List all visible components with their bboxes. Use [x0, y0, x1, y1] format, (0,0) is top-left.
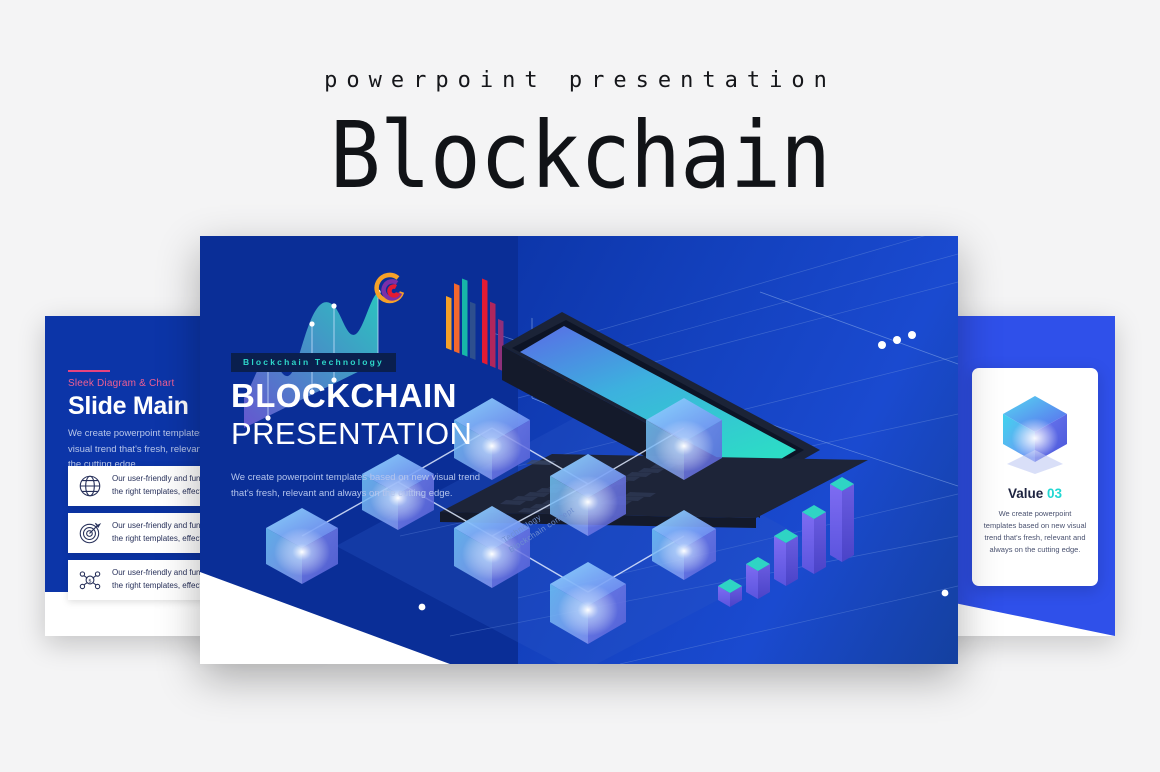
value-card-label: Value — [1008, 486, 1043, 501]
slide-preview-center[interactable]: Blockchain Technology BLOCKCHAIN PRESENT… — [200, 236, 958, 664]
accent-rule — [68, 370, 110, 372]
poster-canvas: powerpoint presentation Blockchain Sleek… — [0, 0, 1160, 772]
center-slide-heading-primary: BLOCKCHAIN — [231, 377, 457, 415]
center-slide-heading-secondary: PRESENTATION — [231, 416, 472, 452]
isometric-cube-icon — [997, 392, 1073, 474]
target-icon — [77, 520, 103, 546]
value-card-number: 03 — [1047, 486, 1062, 501]
page-title: Blockchain — [46, 110, 1113, 202]
network-node-icon: $ — [77, 567, 103, 593]
svg-text:$: $ — [88, 578, 91, 584]
center-slide-body: We create powerpoint templates based on … — [231, 470, 501, 503]
value-card-title: Value 03 — [1008, 486, 1062, 501]
globe-icon — [77, 473, 103, 499]
status-badge: Blockchain Technology — [231, 353, 396, 372]
value-card[interactable]: Value 03 We create powerpoint templates … — [972, 368, 1098, 586]
header-subtitle: powerpoint presentation — [0, 68, 1160, 93]
value-card-description: We create powerpoint templates based on … — [983, 508, 1087, 557]
